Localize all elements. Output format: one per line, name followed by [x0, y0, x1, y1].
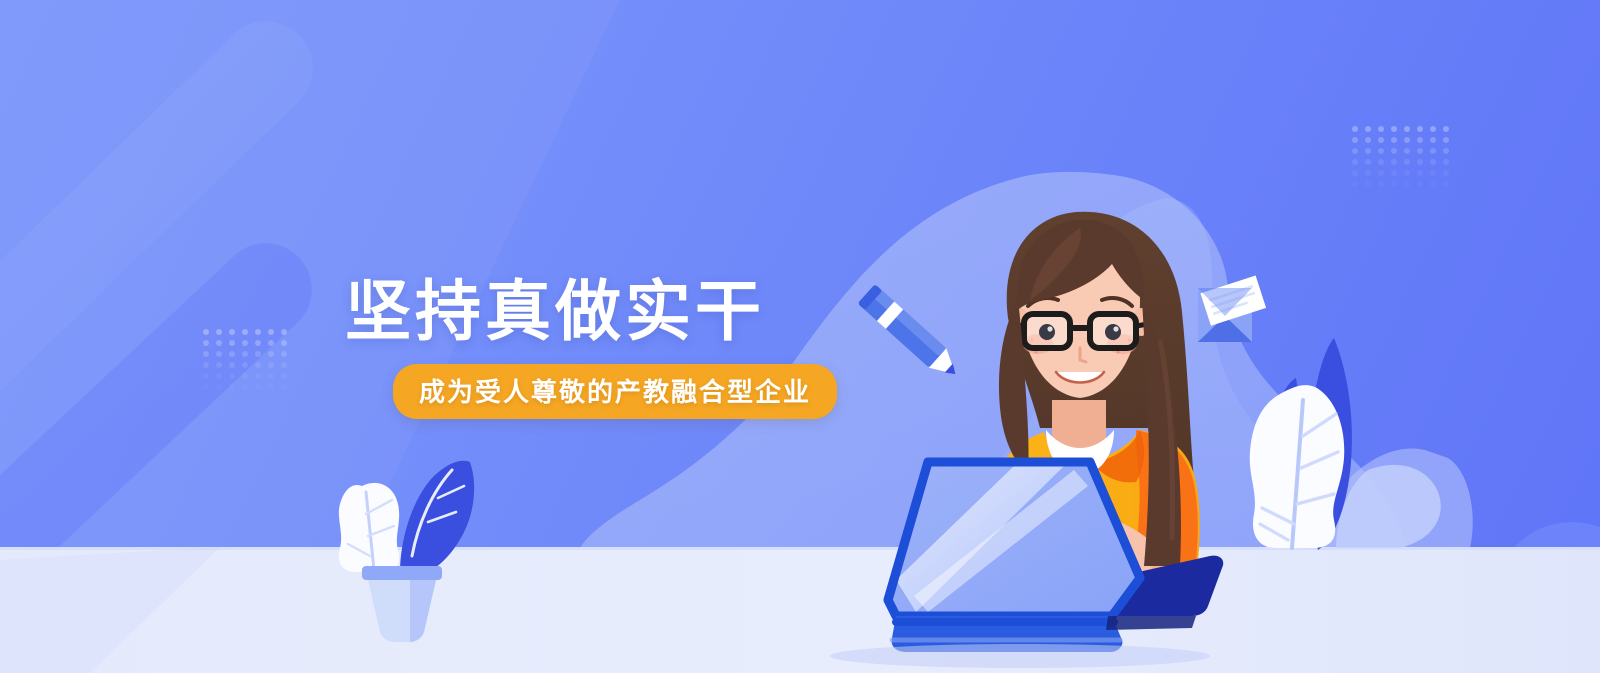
dot-grid-left	[203, 329, 294, 395]
desk-surface	[0, 547, 1600, 673]
banner-text-block: 坚持真做实干 成为受人尊敬的产教融合型企业	[345, 276, 837, 419]
hero-banner: 坚持真做实干 成为受人尊敬的产教融合型企业	[0, 0, 1600, 673]
banner-headline: 坚持真做实干	[345, 276, 837, 347]
laptop-shadow	[830, 644, 1210, 668]
decorative-leaves-right	[1250, 338, 1441, 550]
banner-subtitle-text: 成为受人尊敬的产教融合型企业	[419, 377, 811, 407]
dot-grid-right	[1352, 126, 1456, 192]
banner-subtitle-badge: 成为受人尊敬的产教融合型企业	[393, 364, 837, 419]
